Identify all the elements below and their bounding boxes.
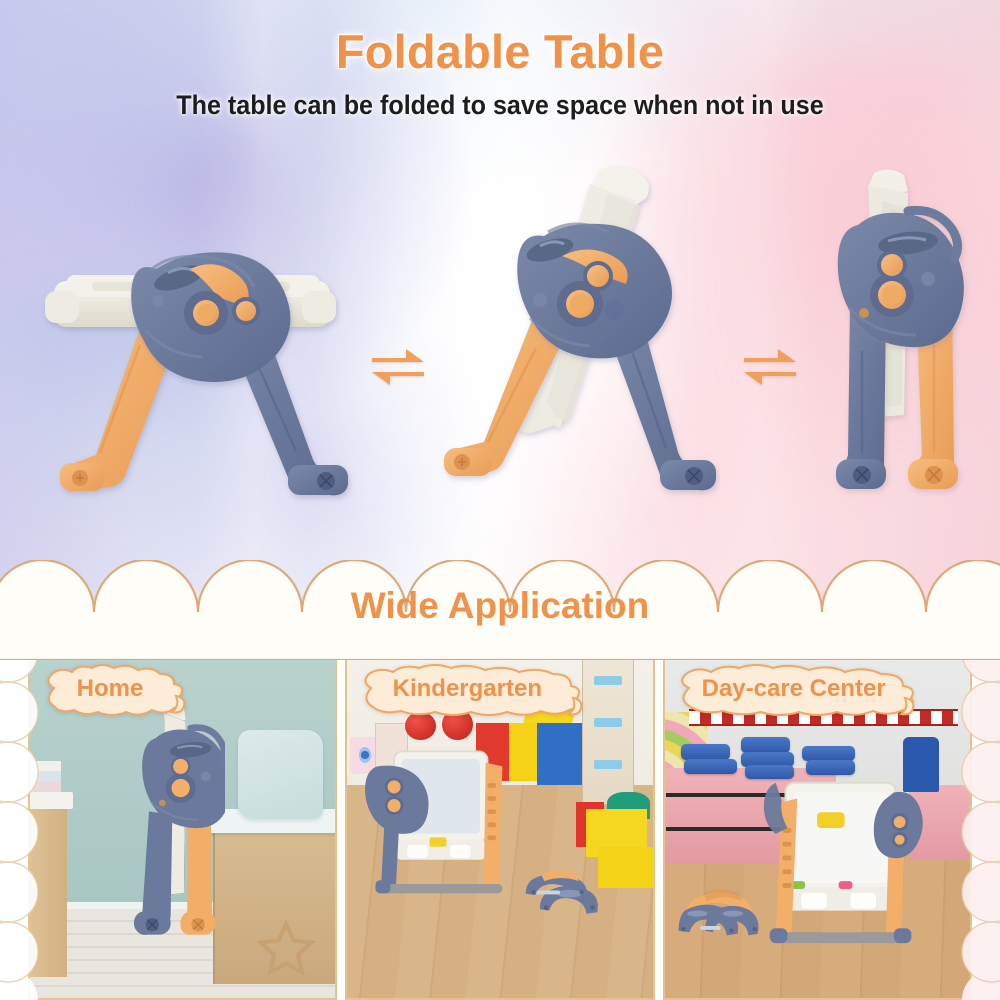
mat <box>684 759 737 774</box>
door-glass-panel <box>594 718 622 727</box>
product-stage-open <box>40 235 360 510</box>
application-label-home: Home <box>40 662 190 718</box>
door <box>582 654 634 805</box>
application-badge-kindergarten: Kindergarten <box>357 662 587 718</box>
application-card-kindergarten[interactable]: Kindergarten <box>345 652 654 1000</box>
foam-block-yellow <box>598 847 653 888</box>
side-table <box>28 798 67 977</box>
application-label-daycare: Day-care Center <box>675 662 923 718</box>
application-label-kindergarten: Kindergarten <box>357 662 587 718</box>
product-stage-folded <box>812 165 1000 510</box>
product-folded-in-home <box>134 675 226 978</box>
application-card-home[interactable]: Home <box>28 652 337 1000</box>
application-photo-strip: Home <box>0 652 1000 1000</box>
cabinet-yellow <box>509 723 536 781</box>
infographic-page: Foldable Table The table can be folded t… <box>0 0 1000 1000</box>
section-title-wide-application: Wide Application <box>0 585 1000 627</box>
product-easel-in-kindergarten <box>353 737 512 923</box>
product-stage-tilting <box>440 160 720 510</box>
mat <box>802 746 855 761</box>
product-accessory-in-kindergarten <box>518 847 603 943</box>
product-stool-in-daycare <box>677 867 762 963</box>
star-cutout <box>255 919 317 981</box>
product-easel-in-daycare <box>756 771 933 964</box>
door-glass-panel <box>594 676 622 685</box>
page-subtitle: The table can be folded to save space wh… <box>35 90 965 121</box>
double-arrow-icon-1 <box>370 345 426 389</box>
cabinet-blue <box>537 723 586 785</box>
fold-demo-section: Foldable Table The table can be folded t… <box>0 0 1000 600</box>
page-title: Foldable Table <box>0 24 1000 79</box>
application-badge-home: Home <box>40 662 190 718</box>
application-badge-daycare: Day-care Center <box>675 662 923 718</box>
pillow <box>238 730 323 819</box>
side-table-top <box>28 792 73 809</box>
mat <box>741 737 790 752</box>
application-card-daycare[interactable]: Day-care Center <box>663 652 972 1000</box>
door-glass-panel <box>594 760 622 769</box>
books-stack <box>30 761 61 792</box>
double-arrow-icon-2 <box>742 345 798 389</box>
